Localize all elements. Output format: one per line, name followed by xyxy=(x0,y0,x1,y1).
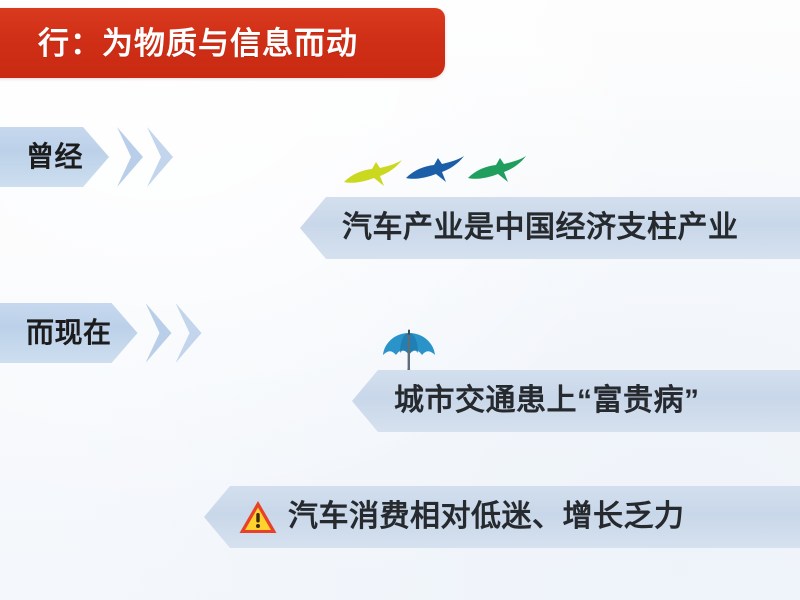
statement-text: 汽车消费相对低迷、增长乏力 xyxy=(288,502,685,532)
label-bar: 曾经 xyxy=(0,127,109,187)
chevron-right-icon xyxy=(146,303,172,363)
section-label-now: 而现在 xyxy=(0,303,202,363)
bird-blue xyxy=(406,156,464,182)
statement-banner-urban-traffic: 城市交通患上“富贵病” xyxy=(352,370,800,432)
chevron-right-icon xyxy=(117,127,143,187)
flying-birds-icon xyxy=(338,152,528,198)
section-label-text: 而现在 xyxy=(26,319,112,347)
section-label-past: 曾经 xyxy=(0,127,173,187)
slide-canvas: 行：为物质与信息而动 曾经 汽车产业是中国经济支柱产 xyxy=(0,0,800,600)
title-banner: 行：为物质与信息而动 xyxy=(0,8,445,78)
statement-text: 城市交通患上“富贵病” xyxy=(394,386,700,416)
bird-yellow xyxy=(344,160,402,186)
chevron-right-icon xyxy=(147,127,173,187)
warning-triangle-icon xyxy=(238,499,278,535)
chevron-group xyxy=(142,303,202,363)
section-label-text: 曾经 xyxy=(26,143,83,171)
bird-green xyxy=(468,156,526,182)
chevron-group xyxy=(113,127,173,187)
statement-banner-auto-consumption: 汽车消费相对低迷、增长乏力 xyxy=(204,486,800,548)
statement-banner-auto-industry: 汽车产业是中国经济支柱产业 xyxy=(300,197,800,259)
statement-text: 汽车产业是中国经济支柱产业 xyxy=(342,213,739,243)
warning-statement-wrap: 汽车消费相对低迷、增长乏力 xyxy=(238,499,685,535)
chevron-right-icon xyxy=(176,303,202,363)
page-title: 行：为物质与信息而动 xyxy=(38,28,358,59)
label-bar: 而现在 xyxy=(0,303,138,363)
